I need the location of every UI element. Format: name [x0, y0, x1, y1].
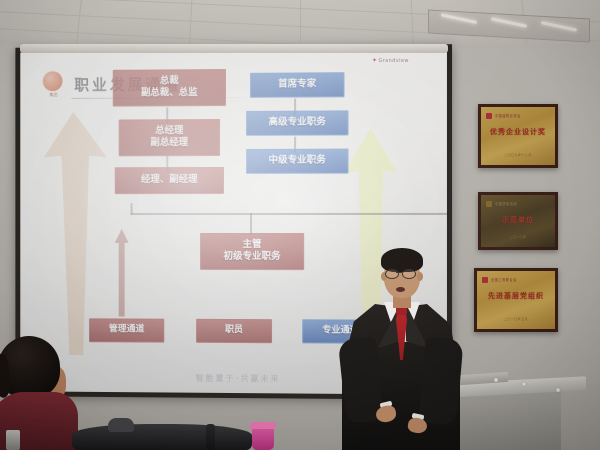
screen-brand-label: ✦Grandview: [372, 57, 409, 64]
slide-logo-caption: 集团: [43, 92, 65, 98]
podium-screw: [494, 378, 498, 382]
plaque-emblem-icon: [486, 201, 492, 207]
slide-box-chief: 首席专家: [250, 72, 344, 98]
plaque-top-title: 优秀企业设计奖: [481, 127, 555, 137]
slide-logo-disc: [43, 71, 63, 91]
slide-box-mid: 中级专业职务: [246, 149, 349, 174]
plaque-top-org: 中国建筑业协会: [495, 113, 521, 118]
presenter-mouth: [396, 287, 405, 292]
photo-scene: 集团 职业发展通道: [0, 0, 600, 450]
podium-screw: [522, 382, 526, 386]
presenter-hair: [381, 248, 423, 272]
wall-plaque-top: 中国建筑业协会 优秀企业设计奖 二〇〇九年十二月: [478, 104, 558, 168]
pink-cup: [252, 426, 274, 450]
slide-box-senior: 高级专业职务: [246, 110, 349, 135]
slide-box-manager: 经理、副经理: [115, 167, 224, 194]
screen-brand-mark: ✦: [372, 57, 377, 64]
podium-screw: [556, 388, 560, 392]
pink-cup-lid: [250, 422, 276, 429]
connector-center-drop: [250, 213, 252, 235]
presenter: [336, 246, 464, 450]
projector-lens-housing: [108, 418, 134, 432]
wall-plaque-bottom: 全国工商联合会 先进基层党组织 二〇一〇年五月: [474, 268, 558, 332]
plaque-top-footer: 二〇〇九年十二月: [481, 153, 555, 157]
connector-horiz-bar: [131, 213, 447, 215]
metal-stand: [6, 430, 20, 450]
plaque-mid-title: 示范单位: [481, 215, 555, 225]
slide-box-supervisor: 主管 初级专业职务: [200, 233, 304, 270]
plaque-mid-org: 中国质量信用: [495, 201, 517, 206]
slide-logo: 集团: [43, 71, 65, 93]
microphone-stand: [206, 424, 215, 450]
screen-roller-bar: [20, 44, 448, 53]
plaque-emblem-icon: [486, 113, 492, 119]
eyeglasses-bridge: [396, 272, 402, 273]
wall-plaque-middle: 中国质量信用 示范单位 二〇一〇年: [478, 192, 558, 250]
slide-box-ceo: 总裁 副总裁、总监: [113, 69, 226, 106]
presenter-arm-right: [418, 337, 463, 426]
slide-box-management-channel: 管理通道: [89, 318, 164, 343]
plaque-emblem-icon: [482, 277, 488, 283]
plaque-mid-footer: 二〇一〇年: [481, 235, 555, 239]
slide-box-staff: 职员: [196, 319, 272, 344]
screen-brand-text: Grandview: [378, 58, 408, 64]
slide-footer-text: 智胜置于·共赢未来: [153, 372, 323, 384]
eyeglasses-icon: [385, 269, 399, 279]
plaque-bottom-footer: 二〇一〇年五月: [477, 317, 555, 321]
plaque-bottom-org: 全国工商联合会: [491, 277, 517, 282]
presenter-ear-right: [417, 272, 423, 281]
slide-box-gm: 总经理 副总经理: [119, 119, 220, 156]
plaque-bottom-title: 先进基层党组织: [477, 291, 555, 301]
projector-unit: [72, 424, 252, 450]
eyeglasses-icon: [402, 269, 416, 279]
mgmt-riser-arrow-icon: [115, 229, 129, 317]
podium-body: [452, 392, 561, 450]
